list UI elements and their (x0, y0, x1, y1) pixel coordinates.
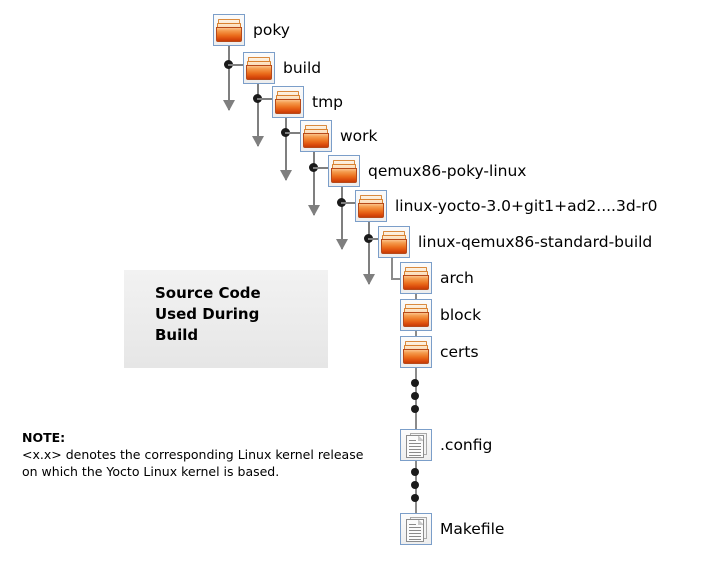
tree-node-label: linux-qemux86-standard-build (418, 235, 652, 251)
ellipsis-dot (411, 468, 419, 476)
ellipsis-dot (411, 379, 419, 387)
file-icon (400, 513, 432, 545)
tree-node-label: Makefile (440, 522, 504, 538)
ellipsis-dot (411, 481, 419, 489)
folder-icon (400, 336, 432, 368)
note-title: NOTE: (22, 430, 382, 446)
tree-node-tmp[interactable] (272, 86, 304, 118)
tree-node-config[interactable] (400, 429, 432, 461)
tree-node-certs[interactable] (400, 336, 432, 368)
tree-node-arch[interactable] (400, 262, 432, 294)
ellipsis-dot (411, 405, 419, 413)
tree-node-label: linux-yocto-3.0+git1+ad2....3d-r0 (395, 199, 658, 215)
tree-node-linux-qemux86-standard-build[interactable] (378, 226, 410, 258)
connector-hline-work-qemux86 (313, 167, 329, 169)
connector-arrow-tmp (280, 170, 292, 181)
folder-icon (213, 14, 245, 46)
tree-node-label: block (440, 308, 481, 324)
tree-node-linux-yocto[interactable] (355, 190, 387, 222)
folder-icon (328, 155, 360, 187)
tree-node-label: qemux86-poky-linux (368, 164, 526, 180)
tree-node-block[interactable] (400, 299, 432, 331)
tree-node-label: work (340, 129, 378, 145)
folder-icon (272, 86, 304, 118)
connector-arrow-build (252, 136, 264, 147)
tree-node-makefile[interactable] (400, 513, 432, 545)
folder-icon (355, 190, 387, 222)
connector-arrow-poky (223, 100, 235, 111)
tree-node-build[interactable] (243, 52, 275, 84)
tree-node-label: .config (440, 438, 492, 454)
connector-arrow-work (308, 205, 320, 216)
folder-icon (378, 226, 410, 258)
tree-node-label: poky (253, 23, 290, 39)
folder-icon (400, 299, 432, 331)
connector-hline-poky-build (228, 64, 244, 66)
tree-node-label: tmp (312, 95, 343, 111)
folder-icon (300, 120, 332, 152)
note-block: NOTE: <x.x> denotes the corresponding Li… (22, 430, 382, 480)
tree-node-poky[interactable] (213, 14, 245, 46)
note-body: <x.x> denotes the corresponding Linux ke… (22, 446, 382, 480)
source-code-callout-text: Source Code Used During Build (155, 283, 261, 346)
folder-icon (400, 262, 432, 294)
tree-node-work[interactable] (300, 120, 332, 152)
ellipsis-dot (411, 494, 419, 502)
tree-node-label: arch (440, 271, 474, 287)
connector-vline-standardbuild (391, 258, 393, 280)
source-code-callout-box: Source Code Used During Build (124, 270, 328, 368)
connector-hline-build-tmp (257, 98, 273, 100)
connector-arrow-yocto (363, 274, 375, 285)
diagram-canvas: poky build tmp work qemux86-poky-linux l… (0, 0, 705, 581)
connector-arrow-qemux86 (336, 239, 348, 250)
tree-node-label: certs (440, 345, 479, 361)
ellipsis-dot (411, 392, 419, 400)
connector-hline-tmp-work (285, 132, 301, 134)
file-icon (400, 429, 432, 461)
tree-node-label: build (283, 61, 321, 77)
folder-icon (243, 52, 275, 84)
tree-node-qemux86-poky-linux[interactable] (328, 155, 360, 187)
